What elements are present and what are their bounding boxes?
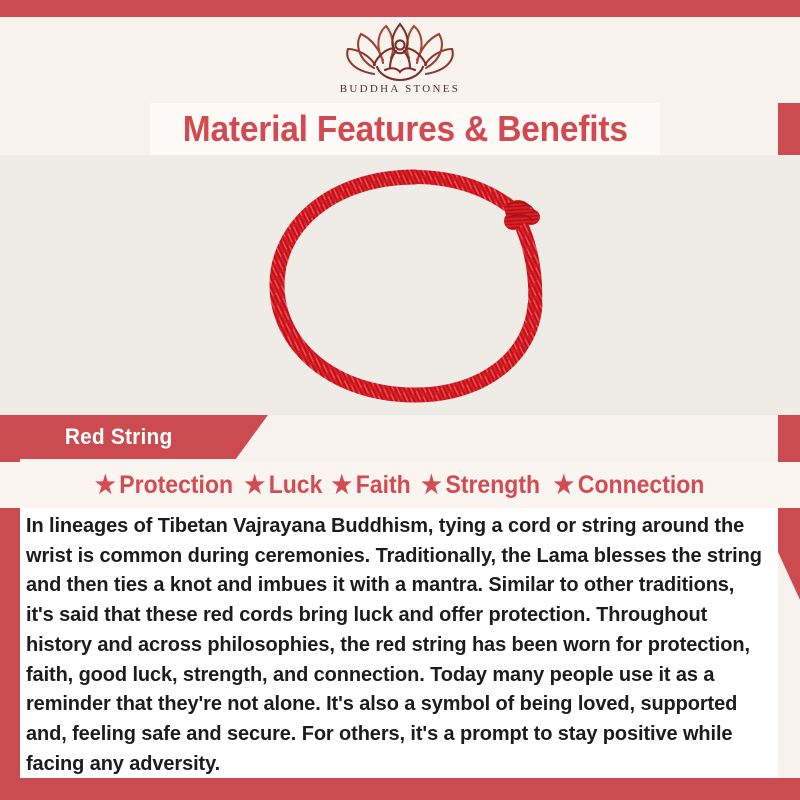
brand-header: BUDDHA STONES [0,17,800,103]
bottom-accent-band [0,778,800,800]
star-icon: ★ [244,473,265,498]
infographic-page: BUDDHA STONES Material Features & Benefi… [0,0,800,800]
star-icon: ★ [554,473,575,498]
section-title: Red String [65,424,173,450]
page-title: Material Features & Benefits [182,108,627,150]
benefit-label: Faith [356,471,411,500]
lotus-meditation-icon [341,18,459,82]
hero-section [0,155,800,415]
benefit-label: Connection [578,471,705,500]
benefit-label: Protection [119,471,233,500]
star-icon: ★ [95,473,116,498]
star-icon: ★ [331,473,352,498]
benefits-row: ★ Protection ★ Luck ★ Faith ★ Strength ★… [0,462,800,508]
title-plate: Material Features & Benefits [150,103,660,155]
section-ribbon: Red String [0,415,268,459]
brand-name: BUDDHA STONES [340,83,460,95]
benefit-protection: ★ Protection [95,471,233,500]
benefit-luck: ★ Luck [244,471,322,500]
benefit-label: Luck [269,471,323,500]
brand-logo: BUDDHA STONES [0,17,800,103]
description-panel: In lineages of Tibetan Vajrayana Buddhis… [20,508,778,778]
product-image-red-string-bracelet [235,155,595,415]
top-accent-band [0,0,800,17]
star-icon: ★ [421,473,442,498]
description-text: In lineages of Tibetan Vajrayana Buddhis… [26,512,767,779]
benefit-faith: ★ Faith [331,471,410,500]
benefit-connection: ★ Connection [554,471,705,500]
benefit-strength: ★ Strength [421,471,540,500]
benefit-label: Strength [445,471,540,500]
